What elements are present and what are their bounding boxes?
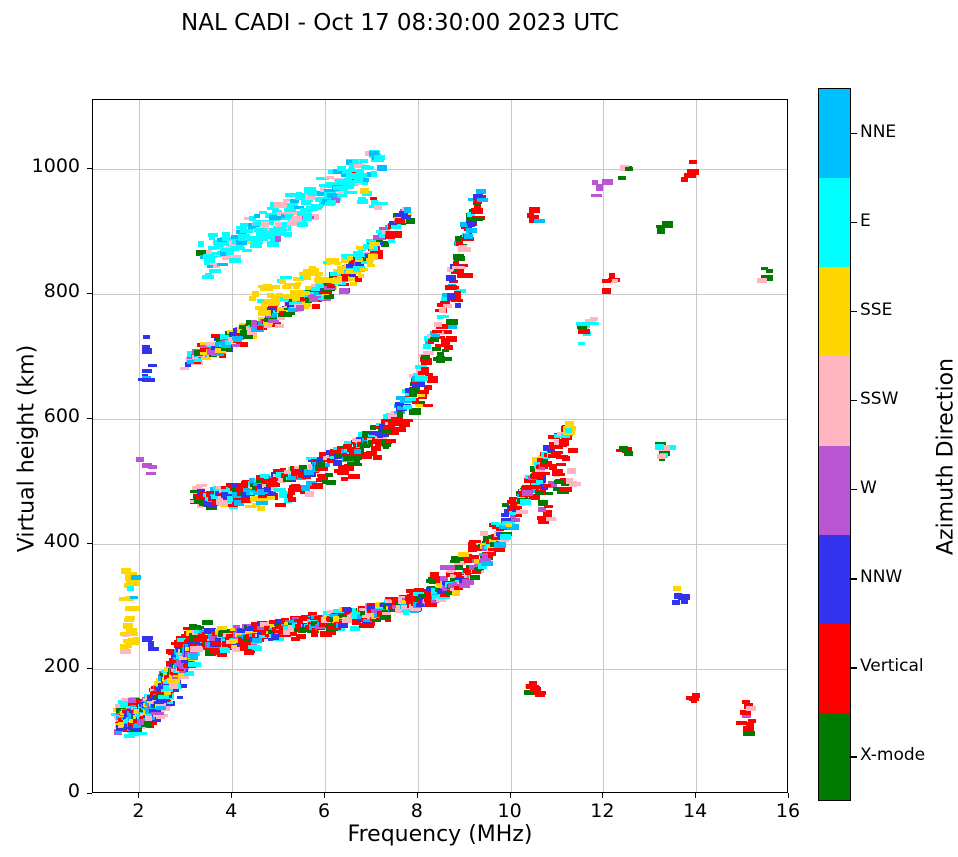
echo-pixel <box>325 176 334 179</box>
echo-pixel <box>590 317 598 321</box>
echo-pixel <box>402 419 413 422</box>
echo-pixel <box>401 215 411 219</box>
x-tick-label: 8 <box>387 800 447 822</box>
echo-pixel <box>568 448 578 453</box>
echo-pixel <box>209 235 215 240</box>
echo-pixel <box>229 639 238 643</box>
echo-pixel <box>421 355 430 359</box>
echo-pixel <box>142 348 152 354</box>
echo-pixel <box>511 518 520 522</box>
echo-pixel <box>527 213 534 218</box>
echo-pixel <box>242 249 252 252</box>
echo-pixel <box>156 714 165 719</box>
echo-pixel <box>520 499 531 505</box>
colorbar-tick <box>851 222 857 223</box>
gridline-horizontal <box>93 669 787 670</box>
echo-pixel <box>464 234 473 239</box>
echo-pixel <box>423 351 434 355</box>
echo-pixel <box>169 683 178 689</box>
echo-pixel <box>362 624 374 628</box>
plot-area <box>92 99 788 793</box>
echo-pixel <box>360 268 368 271</box>
echo-pixel <box>347 256 353 260</box>
echo-pixel <box>543 484 551 487</box>
echo-pixel <box>337 270 344 274</box>
colorbar-segment-ssw <box>819 356 850 445</box>
echo-pixel <box>587 322 599 325</box>
echo-pixel <box>315 198 322 202</box>
echo-pixel <box>136 457 144 462</box>
echo-pixel <box>145 637 152 641</box>
echo-pixel <box>144 378 155 382</box>
echo-pixel <box>145 715 152 721</box>
echo-pixel <box>250 243 262 248</box>
echo-pixel <box>212 252 220 255</box>
echo-pixel <box>474 205 481 210</box>
echo-pixel <box>164 691 171 695</box>
echo-pixel <box>421 367 429 373</box>
echo-pixel <box>556 463 566 466</box>
echo-pixel <box>148 647 159 651</box>
echo-pixel <box>350 282 357 286</box>
x-tick-label: 12 <box>572 800 632 822</box>
echo-pixel <box>311 287 320 291</box>
echo-pixel <box>124 624 133 628</box>
echo-pixel <box>452 266 465 269</box>
echo-pixel <box>471 209 480 213</box>
echo-pixel <box>229 258 241 263</box>
echo-pixel <box>217 242 229 246</box>
echo-pixel <box>609 273 615 279</box>
x-tick <box>324 793 325 798</box>
echo-pixel <box>662 221 673 226</box>
echo-pixel <box>578 329 590 334</box>
echo-pixel <box>409 387 420 392</box>
echo-pixel <box>377 165 387 171</box>
echo-pixel <box>386 231 396 235</box>
echo-pixel <box>273 301 280 305</box>
echo-pixel <box>236 240 247 245</box>
echo-pixel <box>348 474 360 477</box>
colorbar-label-ssw: SSW <box>860 389 898 409</box>
echo-pixel <box>143 335 150 339</box>
echo-pixel <box>458 247 471 252</box>
echo-pixel <box>482 553 488 559</box>
echo-pixel <box>477 198 488 202</box>
echo-pixel <box>142 369 152 373</box>
echo-pixel <box>592 180 598 185</box>
echo-pixel <box>355 257 362 260</box>
x-tick <box>510 793 511 798</box>
y-axis-label: Virtual height (km) <box>15 269 40 629</box>
echo-pixel <box>437 352 444 357</box>
echo-pixel <box>257 326 263 330</box>
echo-pixel <box>312 304 320 309</box>
gridline-horizontal <box>93 419 787 420</box>
echo-pixel <box>363 178 369 182</box>
echo-pixel <box>121 698 128 701</box>
colorbar-label-vertical: Vertical <box>860 656 924 676</box>
echo-pixel <box>333 460 342 466</box>
echo-pixel <box>358 197 366 201</box>
echo-pixel <box>238 235 246 241</box>
echo-pixel <box>297 291 310 295</box>
echo-pixel <box>743 731 755 736</box>
echo-pixel <box>354 178 363 183</box>
y-tick-label: 400 <box>0 530 80 552</box>
page-title: NAL CADI - Oct 17 08:30:00 2023 UTC <box>0 10 800 36</box>
echo-pixel <box>529 485 541 489</box>
echo-pixel <box>418 394 425 397</box>
echo-pixel <box>404 207 411 213</box>
y-tick-label: 1000 <box>0 155 80 177</box>
echo-pixel <box>535 692 545 697</box>
echo-pixel <box>208 246 217 250</box>
y-tick <box>87 293 92 294</box>
echo-pixel <box>427 376 438 383</box>
echo-pixel <box>415 376 428 381</box>
echo-pixel <box>473 217 483 221</box>
echo-pixel <box>341 477 348 481</box>
echo-pixel <box>736 721 747 725</box>
echo-pixel <box>544 505 553 508</box>
x-tick-label: 4 <box>201 800 261 822</box>
echo-pixel <box>458 552 469 557</box>
x-tick <box>138 793 139 798</box>
echo-pixel <box>446 336 457 342</box>
y-tick <box>87 418 92 419</box>
colorbar <box>818 88 851 801</box>
echo-pixel <box>217 626 227 630</box>
echo-pixel <box>447 325 457 329</box>
echo-pixel <box>435 344 445 347</box>
echo-pixel <box>158 695 169 699</box>
echo-pixel <box>657 454 666 459</box>
echo-pixel <box>381 429 392 433</box>
colorbar-segment-w <box>819 446 850 535</box>
echo-pixel <box>151 712 164 715</box>
echo-pixel <box>221 345 231 348</box>
echo-pixel <box>264 487 271 492</box>
echo-pixel <box>369 242 380 246</box>
echo-pixel <box>280 229 287 233</box>
echo-pixel <box>596 184 603 191</box>
echo-pixel <box>409 391 417 397</box>
echo-pixel <box>262 238 268 241</box>
echo-pixel <box>447 293 456 299</box>
echo-pixel <box>275 503 286 507</box>
echo-pixel <box>470 575 480 580</box>
echo-pixel <box>285 193 296 197</box>
echo-pixel <box>545 492 553 495</box>
echo-pixel <box>287 221 297 226</box>
gridline-vertical <box>232 100 233 792</box>
echo-pixel <box>254 214 260 218</box>
echo-pixel <box>625 167 633 171</box>
echo-pixel <box>684 173 696 178</box>
colorbar-label-e: E <box>860 211 871 231</box>
echo-pixel <box>567 468 576 474</box>
echo-pixel <box>565 421 574 427</box>
echo-pixel <box>127 586 134 591</box>
echo-pixel <box>274 202 287 208</box>
echo-pixel <box>131 575 141 580</box>
echo-pixel <box>297 222 308 227</box>
echo-pixel <box>296 305 304 311</box>
echo-pixel <box>506 523 512 527</box>
echo-pixel <box>312 483 323 489</box>
echo-pixel <box>388 422 399 425</box>
echo-pixel <box>423 344 431 349</box>
echo-pixel <box>205 273 212 278</box>
echo-pixel <box>430 337 439 342</box>
echo-pixel <box>526 684 536 689</box>
echo-pixel <box>571 482 581 486</box>
echo-pixel <box>455 564 463 570</box>
echo-pixel <box>453 261 459 266</box>
echo-pixel <box>217 263 228 266</box>
echo-pixel <box>383 444 389 449</box>
echo-pixel <box>681 598 688 604</box>
echo-pixel <box>516 510 528 514</box>
echo-pixel <box>757 278 767 283</box>
echo-pixel <box>187 360 194 364</box>
x-tick <box>417 793 418 798</box>
echo-pixel <box>618 176 626 180</box>
colorbar-tick <box>851 489 857 490</box>
gridline-vertical <box>511 100 512 792</box>
echo-pixel <box>443 304 452 308</box>
echo-pixel <box>314 205 322 210</box>
echo-pixel <box>541 459 548 464</box>
echo-pixel <box>370 197 377 200</box>
echo-pixel <box>748 719 756 723</box>
colorbar-tick <box>851 311 857 312</box>
echo-pixel <box>534 219 545 223</box>
echo-pixel <box>322 480 329 484</box>
echo-pixel <box>391 417 403 423</box>
echo-pixel <box>268 482 280 487</box>
echo-pixel <box>124 618 134 622</box>
x-tick <box>231 793 232 798</box>
echo-pixel <box>578 342 585 345</box>
echo-pixel <box>252 291 259 297</box>
echo-pixel <box>212 642 221 645</box>
x-tick-label: 14 <box>665 800 725 822</box>
echo-pixel <box>362 165 370 168</box>
echo-pixel <box>188 662 201 667</box>
echo-pixel <box>284 232 292 237</box>
echo-pixel <box>202 620 213 625</box>
echo-pixel <box>303 216 312 221</box>
y-tick <box>87 168 92 169</box>
echo-pixel <box>374 155 385 160</box>
gridline-vertical <box>418 100 419 792</box>
echo-pixel <box>494 548 505 552</box>
x-tick-label: 6 <box>294 800 354 822</box>
echo-pixel <box>254 228 267 232</box>
echo-pixel <box>447 320 455 324</box>
y-tick-label: 800 <box>0 280 80 302</box>
echo-pixel <box>619 449 630 452</box>
echo-pixel <box>602 179 613 185</box>
x-tick <box>788 793 789 798</box>
echo-pixel <box>559 439 569 445</box>
y-tick <box>87 543 92 544</box>
echo-pixel <box>360 159 368 163</box>
echo-pixel <box>529 207 540 213</box>
echo-pixel <box>374 205 382 210</box>
echo-pixel <box>148 364 157 367</box>
echo-pixel <box>148 465 157 469</box>
echo-pixel <box>454 256 465 261</box>
echo-pixel <box>451 299 463 302</box>
echo-pixel <box>440 357 452 361</box>
gridline-vertical <box>603 100 604 792</box>
echo-pixel <box>209 269 221 273</box>
gridline-vertical <box>696 100 697 792</box>
echo-pixel <box>494 542 506 548</box>
colorbar-label-w: W <box>860 478 877 498</box>
echo-pixel <box>303 213 312 216</box>
echo-pixel <box>395 427 406 432</box>
echo-pixel <box>258 310 271 316</box>
echo-pixel <box>766 269 773 273</box>
colorbar-segment-x-mode <box>819 713 850 801</box>
colorbar-tick <box>851 756 857 757</box>
echo-pixel <box>305 491 314 497</box>
colorbar-label-x-mode: X-mode <box>860 745 925 765</box>
echo-pixel <box>466 228 477 233</box>
colorbar-segment-nnw <box>819 535 850 624</box>
echo-pixel <box>267 496 275 500</box>
colorbar-tick <box>851 578 857 579</box>
echo-pixel <box>333 186 343 190</box>
echo-pixel <box>287 494 293 498</box>
echo-pixel <box>368 254 378 260</box>
echo-pixel <box>344 183 351 188</box>
echo-pixel <box>261 221 269 227</box>
echo-pixel <box>256 501 268 505</box>
echo-pixel <box>457 274 465 278</box>
echo-pixel <box>691 699 697 703</box>
echo-pixel <box>468 224 475 227</box>
echo-pixel <box>120 644 129 649</box>
colorbar-segment-nne <box>819 89 850 178</box>
colorbar-label-nnw: NNW <box>860 567 902 587</box>
echo-pixel <box>446 275 456 281</box>
echo-pixel <box>367 260 373 264</box>
echo-pixel <box>433 357 440 361</box>
colorbar-tick <box>851 133 857 134</box>
gridline-horizontal <box>93 294 787 295</box>
echo-pixel <box>316 284 324 288</box>
echo-pixel <box>318 467 328 471</box>
gridline-vertical <box>139 100 140 792</box>
echo-pixel <box>403 609 409 615</box>
echo-pixel <box>746 706 756 711</box>
echo-pixel <box>358 274 364 278</box>
echo-pixel <box>373 455 382 460</box>
echo-pixel <box>453 271 464 274</box>
echo-pixel <box>177 696 183 699</box>
echo-pixel <box>275 236 281 242</box>
echo-pixel <box>423 404 433 407</box>
echo-pixel <box>432 330 442 333</box>
echo-pixel <box>138 378 144 381</box>
echo-pixel <box>318 462 325 467</box>
echo-pixel <box>438 315 449 318</box>
x-tick <box>602 793 603 798</box>
echo-pixel <box>190 656 198 660</box>
echo-pixel <box>156 706 166 710</box>
echo-pixel <box>252 645 260 650</box>
echo-pixel <box>672 600 680 605</box>
y-tick <box>87 668 92 669</box>
echo-pixel <box>553 487 561 491</box>
x-tick <box>695 793 696 798</box>
echo-pixel <box>456 573 462 577</box>
colorbar-segment-e <box>819 178 850 267</box>
colorbar-tick <box>851 400 857 401</box>
echo-pixel <box>232 647 240 652</box>
echo-pixel <box>320 631 332 637</box>
echo-pixel <box>380 615 391 620</box>
echo-pixel <box>269 478 277 483</box>
echo-pixel <box>275 324 284 328</box>
echo-pixel <box>553 473 565 476</box>
echo-pixel <box>382 612 391 615</box>
echo-pixel <box>612 279 618 283</box>
echo-pixel <box>120 649 131 654</box>
y-tick <box>87 793 92 794</box>
colorbar-segment-sse <box>819 267 850 356</box>
echo-pixel <box>591 194 602 197</box>
colorbar-label-nne: NNE <box>860 122 896 142</box>
echo-pixel <box>130 596 138 599</box>
echo-pixel <box>742 700 750 704</box>
echo-pixel <box>371 171 377 177</box>
echo-pixel <box>271 634 279 640</box>
colorbar-tick <box>851 667 857 668</box>
echo-pixel <box>129 606 140 611</box>
echo-pixel <box>673 586 681 591</box>
echo-pixel <box>310 190 317 193</box>
echo-pixel <box>339 288 349 294</box>
echo-pixel <box>353 251 363 257</box>
echo-pixel <box>360 188 369 194</box>
echo-pixel <box>325 202 335 206</box>
echo-pixel <box>455 303 461 308</box>
echo-pixel <box>249 296 256 301</box>
echo-pixel <box>333 277 342 282</box>
echo-pixel <box>657 228 665 234</box>
echo-pixel <box>560 487 572 492</box>
echo-pixel <box>180 367 189 370</box>
echo-pixel <box>546 517 556 521</box>
echo-pixel <box>338 623 348 628</box>
echo-pixel <box>300 208 313 212</box>
colorbar-segment-vertical <box>819 624 850 713</box>
echo-pixel <box>315 272 321 278</box>
echo-pixel <box>445 285 457 290</box>
echo-pixel <box>273 488 282 492</box>
gridline-horizontal <box>93 169 787 170</box>
echo-pixel <box>689 160 697 164</box>
echo-pixel <box>403 405 412 409</box>
echo-pixel <box>123 639 133 643</box>
echo-pixel <box>344 191 357 194</box>
